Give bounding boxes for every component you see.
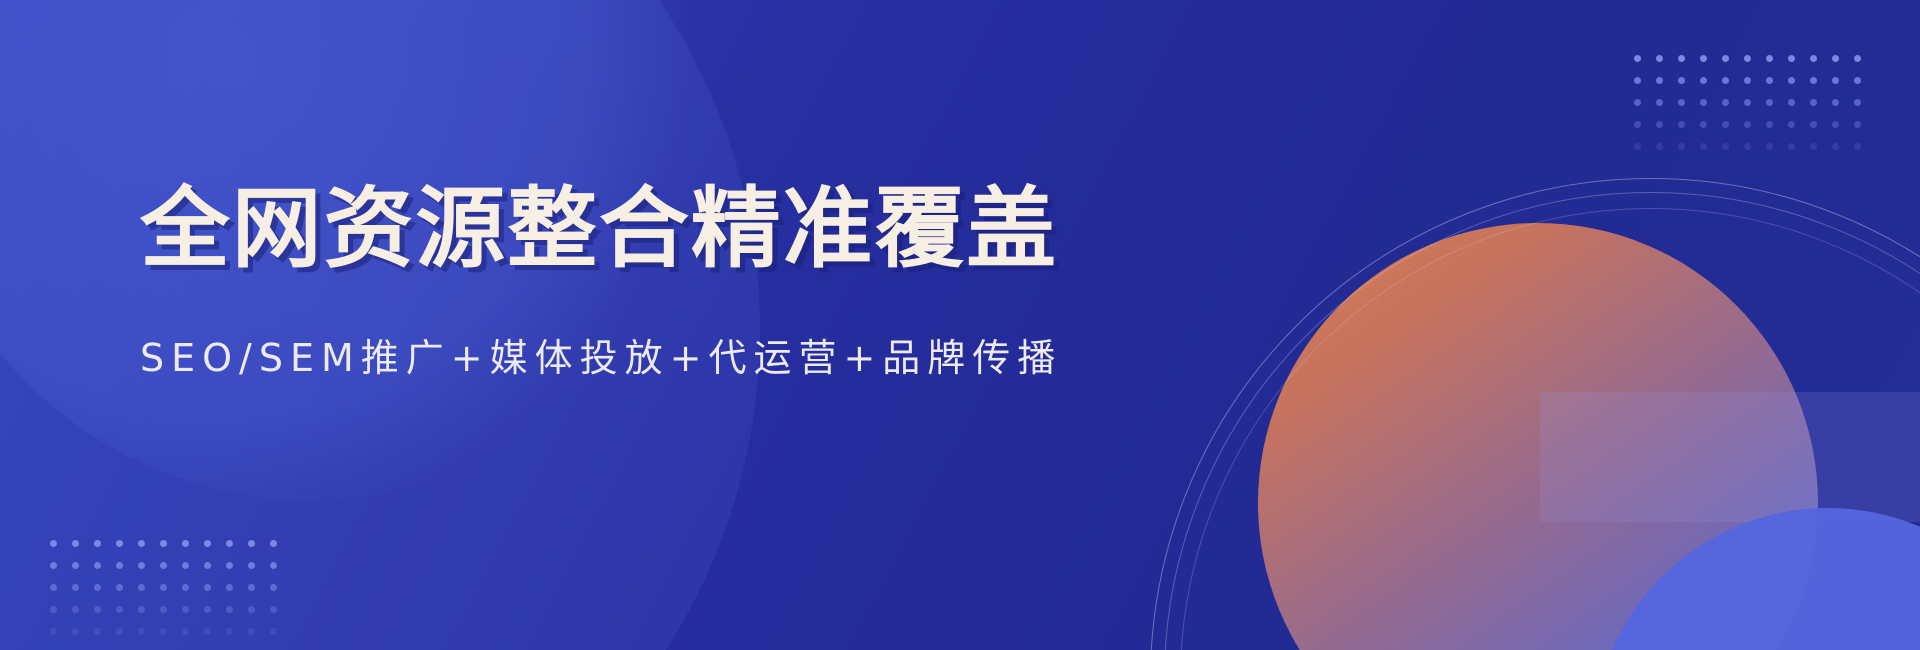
dot [138,584,145,591]
translucent-band-decoration [1540,392,1920,522]
concentric-arc-lines-decoration [1150,178,1920,650]
dot [1854,121,1861,128]
dot [94,584,101,591]
dot [138,540,145,547]
dot [94,562,101,569]
dot [182,562,189,569]
dot [1634,77,1641,84]
dot [138,628,145,635]
dot [50,628,57,635]
dot-row [50,628,292,635]
dot [1634,99,1641,106]
dot [1700,77,1707,84]
dot [182,584,189,591]
dot [116,584,123,591]
dot [1722,143,1729,150]
dot [1744,77,1751,84]
dot [94,540,101,547]
dot [1656,55,1663,62]
dot [1700,55,1707,62]
dot [248,628,255,635]
dot [94,628,101,635]
dot [1788,143,1795,150]
dot [116,562,123,569]
dot [1678,55,1685,62]
dot [1766,55,1773,62]
dot [1810,121,1817,128]
dot [1832,143,1839,150]
dot [1854,77,1861,84]
dot [1678,77,1685,84]
dot [1722,77,1729,84]
dot [1678,99,1685,106]
dot [1832,55,1839,62]
dot [1656,77,1663,84]
dot [204,628,211,635]
dot [72,628,79,635]
dot [270,540,277,547]
dot [1744,55,1751,62]
dot [1832,77,1839,84]
dot [1700,143,1707,150]
dot [1810,99,1817,106]
dot [116,540,123,547]
dot [1854,99,1861,106]
dot [1656,143,1663,150]
dot [72,562,79,569]
dot [1854,55,1861,62]
promo-banner: 全网资源整合精准覆盖 SEO/SEM推广+媒体投放+代运营+品牌传播 [0,0,1920,650]
dot [1788,121,1795,128]
dot [1678,143,1685,150]
orange-violet-circle-decoration [1258,223,1818,650]
dot [1854,143,1861,150]
dot [1634,121,1641,128]
dot [1788,55,1795,62]
dot [160,606,167,613]
dot [1766,99,1773,106]
dot [226,540,233,547]
dot [72,606,79,613]
banner-content: 全网资源整合精准覆盖 SEO/SEM推广+媒体投放+代运营+品牌传播 [140,182,1140,382]
dot [248,562,255,569]
dot [204,606,211,613]
dot [1656,99,1663,106]
dot [116,606,123,613]
dot-row [50,540,292,547]
dot [50,606,57,613]
dot [204,540,211,547]
dot-grid-top-right [1634,55,1876,165]
dot [1766,77,1773,84]
dot [1810,77,1817,84]
dot [1634,55,1641,62]
dot [1766,143,1773,150]
dot [182,628,189,635]
dot [160,584,167,591]
dot [182,606,189,613]
arc-line-inner [1180,208,1920,650]
dot [226,606,233,613]
dot [1656,121,1663,128]
dot-row [50,562,292,569]
dot [1744,121,1751,128]
dot [248,606,255,613]
dot [226,628,233,635]
dot [1700,99,1707,106]
dot [1722,99,1729,106]
dot-row [1634,143,1876,150]
dot [50,562,57,569]
dot [270,606,277,613]
dot [248,540,255,547]
dot [50,584,57,591]
dot [160,628,167,635]
dot [160,562,167,569]
dot [94,606,101,613]
dot [226,562,233,569]
dot [1700,121,1707,128]
dot [72,540,79,547]
dot [1810,143,1817,150]
dot [1766,121,1773,128]
dot [116,628,123,635]
dot-grid-bottom-left [50,540,292,650]
dot [1788,99,1795,106]
dot [248,584,255,591]
dot-row [1634,121,1876,128]
dot [160,540,167,547]
dot [270,628,277,635]
dot-row [1634,77,1876,84]
arc-line-middle [1164,192,1920,650]
dot [226,584,233,591]
dot [138,562,145,569]
dot [1810,55,1817,62]
banner-headline: 全网资源整合精准覆盖 [140,182,1160,275]
dot-row [50,606,292,613]
dot [1832,121,1839,128]
dot [1722,121,1729,128]
dot [270,584,277,591]
dot [1722,55,1729,62]
dot [50,540,57,547]
dot [138,606,145,613]
dot [204,562,211,569]
dot-row [1634,99,1876,106]
dot [1832,99,1839,106]
dot [1744,99,1751,106]
dot [1678,121,1685,128]
banner-subtitle: SEO/SEM推广+媒体投放+代运营+品牌传播 [140,275,1140,382]
dot [1634,143,1641,150]
dot [1788,77,1795,84]
dot-row [50,584,292,591]
arc-line-outer [1150,178,1920,650]
dot [270,562,277,569]
blue-circle-decoration [1593,508,1920,650]
dot [182,540,189,547]
dot [1744,143,1751,150]
dot [72,584,79,591]
dot-row [1634,55,1876,62]
dot [204,584,211,591]
